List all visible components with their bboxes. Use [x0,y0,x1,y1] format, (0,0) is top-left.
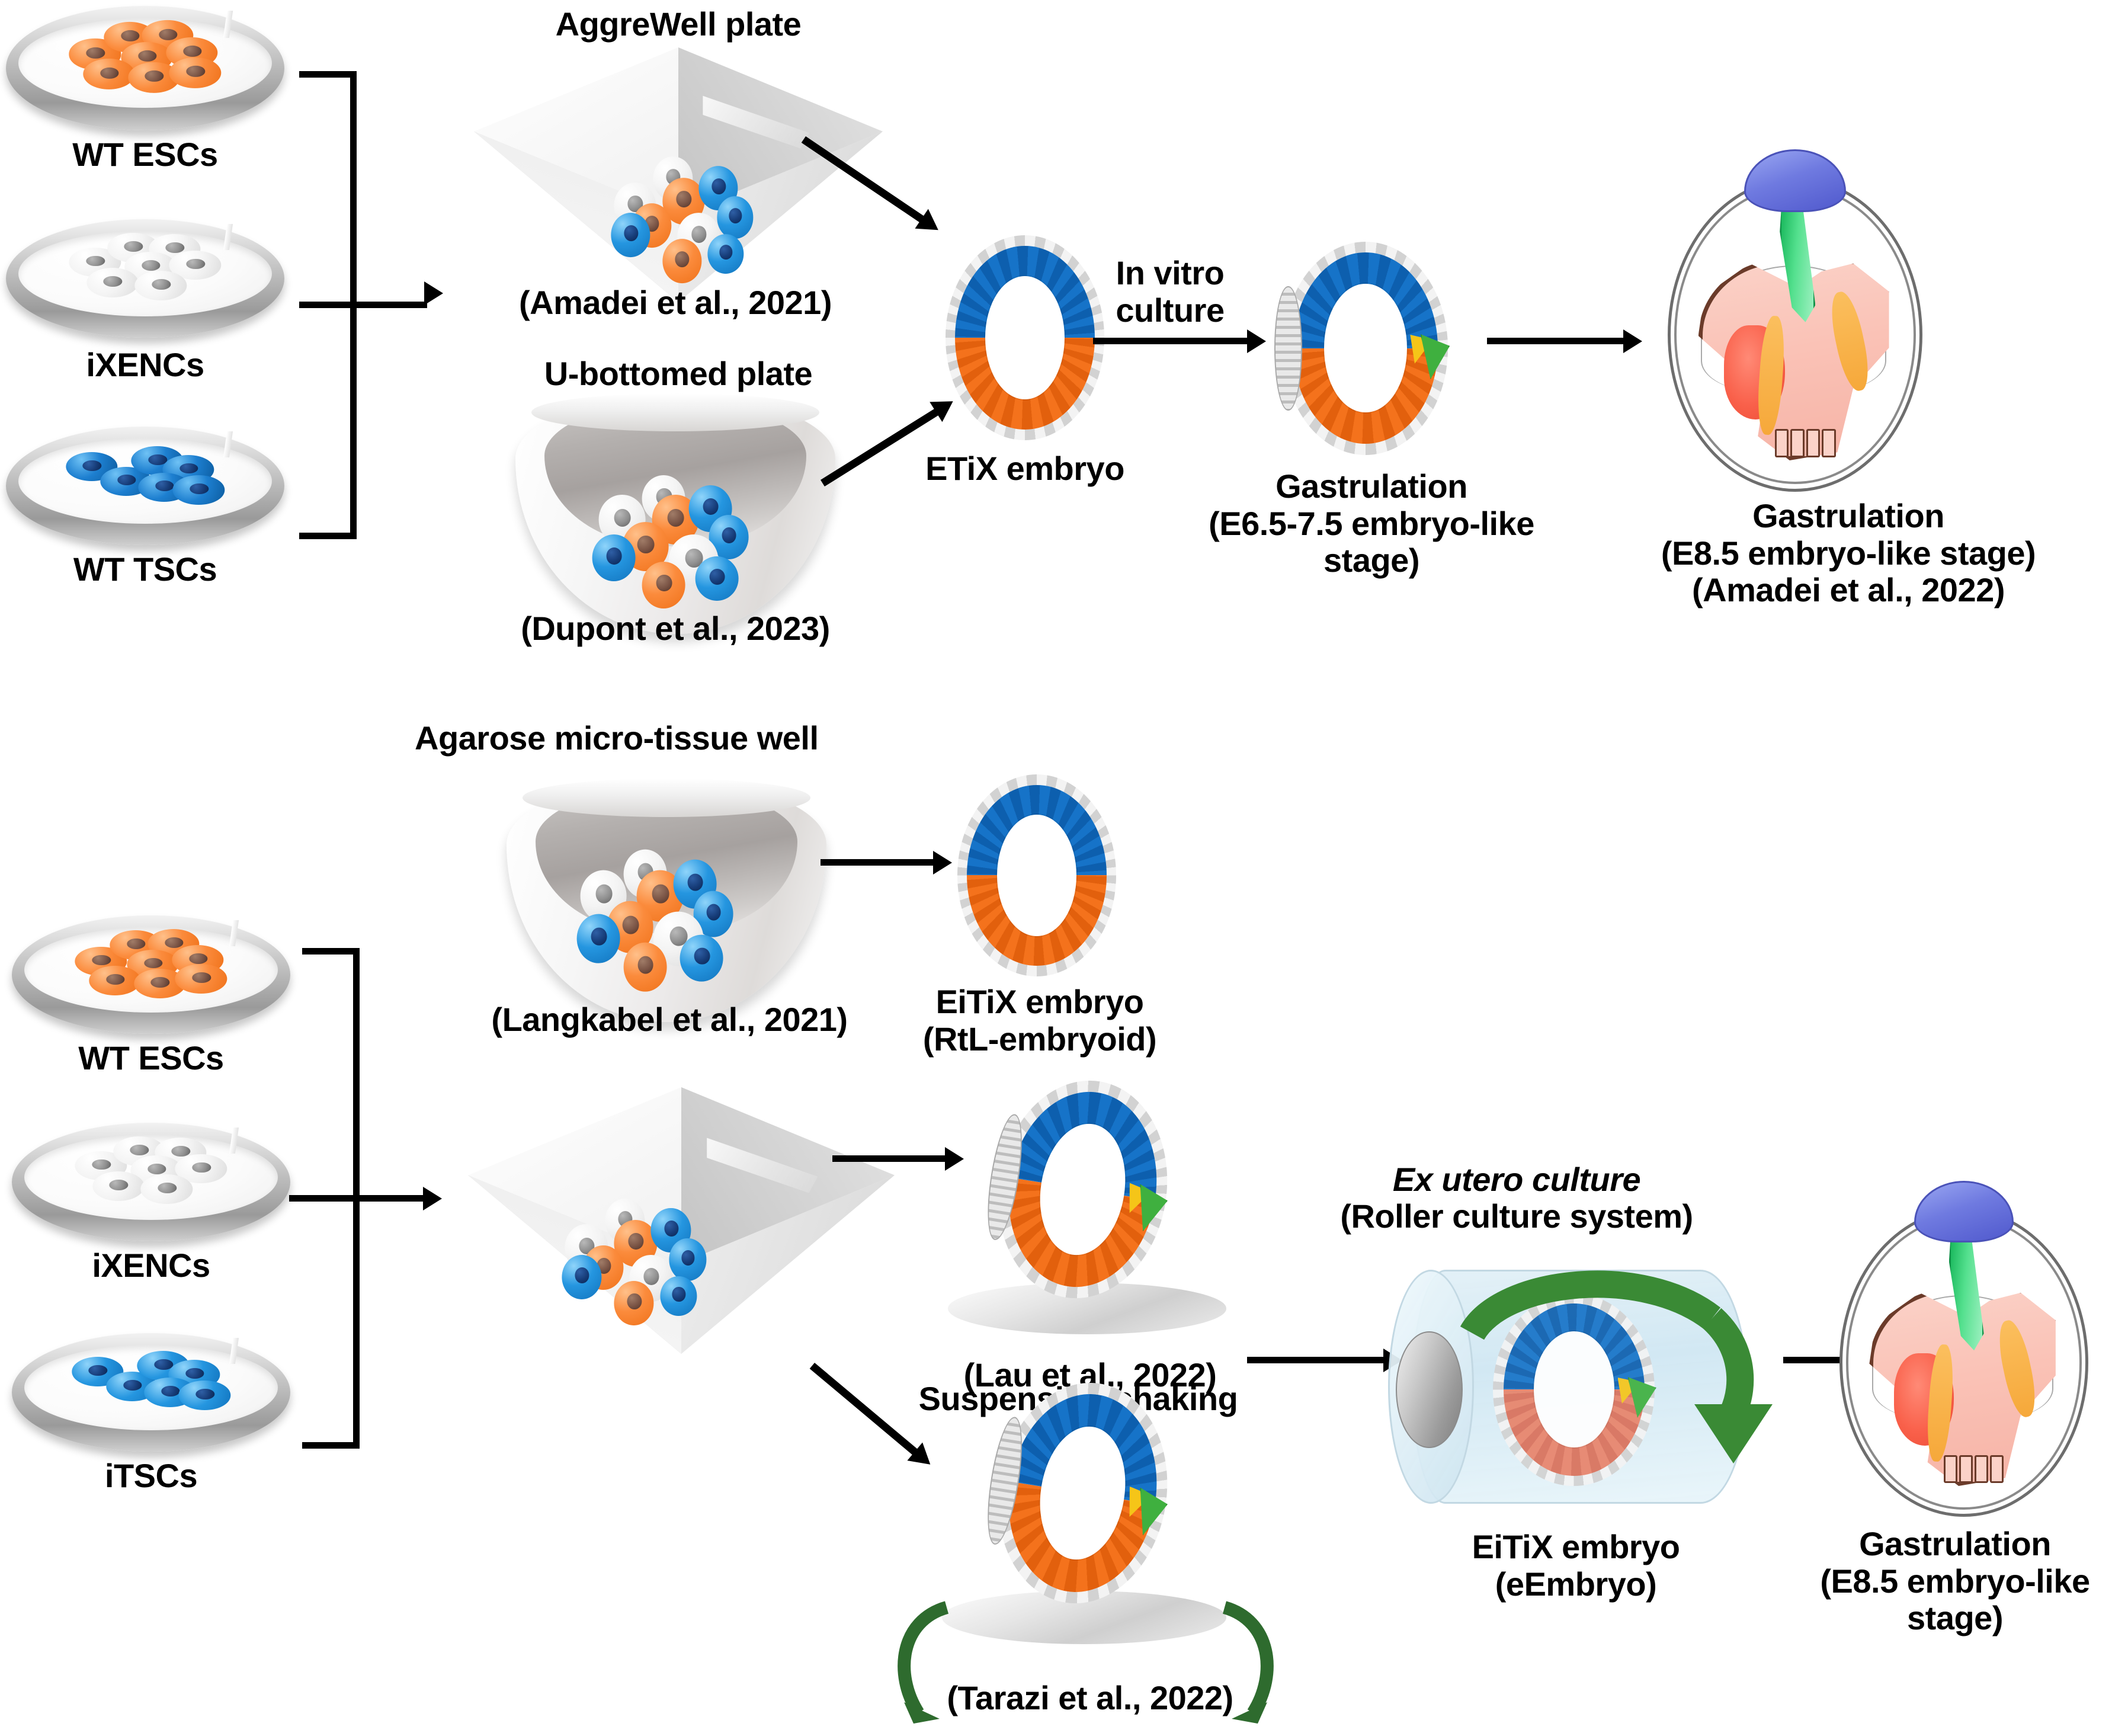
e85-embryo-illustration-top [1668,178,1922,492]
arrowhead-aggrewell-to-lau [945,1147,964,1171]
ectoplacental-cone [1744,149,1846,212]
label-in-vitro-culture: In vitro culture [1084,255,1256,329]
label-gastrulation-e85-bottom: Gastrulation (E8.5 embryo-like stage) [1783,1526,2127,1637]
title-agarose-micro-tissue-well: Agarose micro-tissue well [415,720,877,757]
arrow-to-e85-top [1487,338,1626,344]
label-roller-culture-system: (Roller culture system) [1291,1198,1742,1235]
arrowhead-in-vitro-culture [1247,329,1266,353]
agarose-micro-tissue-well [507,782,826,1022]
label-ixencs-bottom: iXENCs [12,1247,290,1285]
arrow-agarose-to-eitix [821,859,936,866]
rotation-arrow-icon [1446,1262,1777,1499]
citation-dupont-2023: (Dupont et al., 2023) [468,610,883,648]
label-wt-escs-top: WT ESCs [6,136,284,174]
pro-amniotic-cavity [1324,284,1406,413]
bracket-top-sources [299,71,418,539]
arrowhead-top-sources [424,281,443,305]
cell-clump-white [59,230,231,303]
label-itscs-bottom: iTSCs [12,1458,290,1495]
arrow-aggrewell-to-lau [832,1155,948,1162]
etix-embryo-illustration [942,231,1108,444]
cell-clump-orange [65,926,237,1000]
aggrewell-plate-bottom [468,1087,895,1354]
cell-clump-orange [59,17,231,94]
label-gastrulation-e65-75: Gastrulation (E6.5-7.5 embryo-like stage… [1176,468,1567,579]
u-bottom-well-top [515,397,835,634]
label-etix-embryo: ETiX embryo [877,450,1173,488]
mixed-cell-aggregate [611,152,762,269]
mixed-cell-aggregate [577,849,743,979]
mixed-cell-aggregate [592,473,759,596]
figure-canvas: WT ESCs iXENCs WT TSCs [0,0,2128,1736]
trophoblast-compartment [1274,286,1302,411]
label-eitix-embryo-rtl: EiTiX embryo (RtL-embryoid) [859,984,1220,1058]
arrow-in-vitro-culture [1093,338,1250,344]
aggrewell-plate-top [474,47,883,302]
petri-dish-itscs-bottom [12,1333,290,1452]
label-wt-tscs-top: WT TSCs [6,551,284,588]
eitix-embryo-tarazi [978,1365,1187,1620]
title-aggrewell-plate: AggreWell plate [492,6,865,43]
arrowhead-to-e85-top [1623,329,1642,353]
ectoplacental-cone [1914,1181,2014,1242]
citation-tarazi-2022: (Tarazi et al., 2022) [912,1680,1268,1717]
label-wt-escs-bottom: WT ESCs [12,1040,290,1077]
petri-dish-ixencs-bottom [12,1123,290,1241]
gastrulating-embryo-e65-75 [1280,237,1451,459]
bracket-bottom-sources [302,948,421,1449]
label-gastrulation-e85-top: Gastrulation (E8.5 embryo-like stage) (A… [1611,498,2085,609]
arrowhead-agarose-to-eitix [933,851,952,875]
pro-amniotic-cavity [997,815,1076,937]
cell-clump-blue [59,437,231,511]
citation-langkabel-2021: (Langkabel et al., 2021) [450,1001,889,1039]
somites [1775,429,1836,457]
citation-amadei-2021: (Amadei et al., 2021) [468,284,883,322]
mixed-cell-aggregate [562,1194,715,1311]
petri-dish-wt-tscs-top [6,427,284,545]
pro-amniotic-cavity [985,276,1065,400]
arrowhead-bottom-sources [423,1187,442,1210]
cell-clump-blue [65,1344,237,1417]
petri-dish-wt-escs-bottom [12,915,290,1034]
eitix-embryo-lau [979,1063,1187,1315]
label-ex-utero-culture: Ex utero culture [1291,1161,1742,1199]
e85-embryo-illustration-bottom [1839,1209,2088,1517]
title-u-bottomed-plate: U-bottomed plate [492,355,865,393]
eitix-embryo-rtl [954,770,1120,981]
petri-dish-wt-escs-top [6,6,284,130]
label-ixencs-top: iXENCs [6,347,284,384]
label-eitix-embryo-eembryo: EiTiX embryo (eEmbryo) [1380,1529,1771,1603]
arrow-to-roller-culture [1247,1357,1386,1363]
cell-clump-white [65,1133,237,1207]
somites [1944,1455,2004,1483]
petri-dish-ixencs-top [6,219,284,338]
